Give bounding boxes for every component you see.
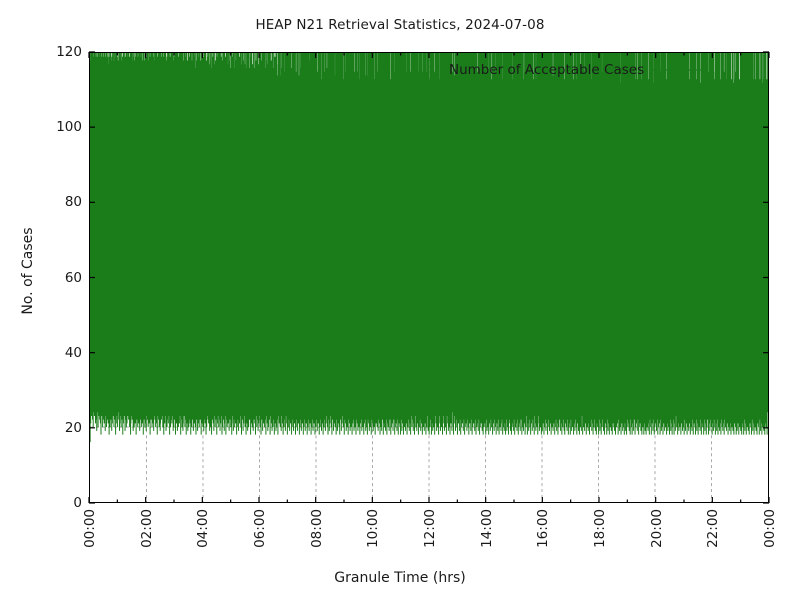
- x-tick-label: 08:00: [309, 509, 325, 548]
- x-tick-label: 18:00: [592, 509, 608, 548]
- x-tick-label: 14:00: [479, 509, 495, 548]
- x-tick-label: 10:00: [365, 509, 381, 548]
- plot-area: [89, 52, 769, 503]
- x-tick-label: 00:00: [762, 509, 778, 548]
- x-tick-label: 02:00: [139, 509, 155, 548]
- y-tick-label: 80: [7, 194, 82, 210]
- y-tick-label: 20: [7, 420, 82, 436]
- x-axis-title: Granule Time (hrs): [0, 570, 800, 586]
- x-tick-label: 16:00: [535, 509, 551, 548]
- y-tick-label: 100: [7, 119, 82, 135]
- x-tick-label: 04:00: [195, 509, 211, 548]
- y-tick-label: 40: [7, 345, 82, 361]
- x-tick-label: 22:00: [705, 509, 721, 548]
- y-tick-label: 0: [7, 495, 82, 511]
- x-tick-label: 00:00: [82, 509, 98, 548]
- data-series-line: [90, 53, 768, 502]
- y-axis-title: No. of Cases: [20, 191, 36, 351]
- y-tick-label: 120: [7, 44, 82, 60]
- x-tick-label: 12:00: [422, 509, 438, 548]
- chart-screenshot: HEAP N21 Retrieval Statistics, 2024-07-0…: [0, 0, 800, 600]
- x-tick-label: 20:00: [649, 509, 665, 548]
- x-tick-label: 06:00: [252, 509, 268, 548]
- y-tick-label: 60: [7, 270, 82, 286]
- page-title: HEAP N21 Retrieval Statistics, 2024-07-0…: [0, 17, 800, 33]
- y-axis-tick-labels: 020406080100120: [0, 0, 82, 600]
